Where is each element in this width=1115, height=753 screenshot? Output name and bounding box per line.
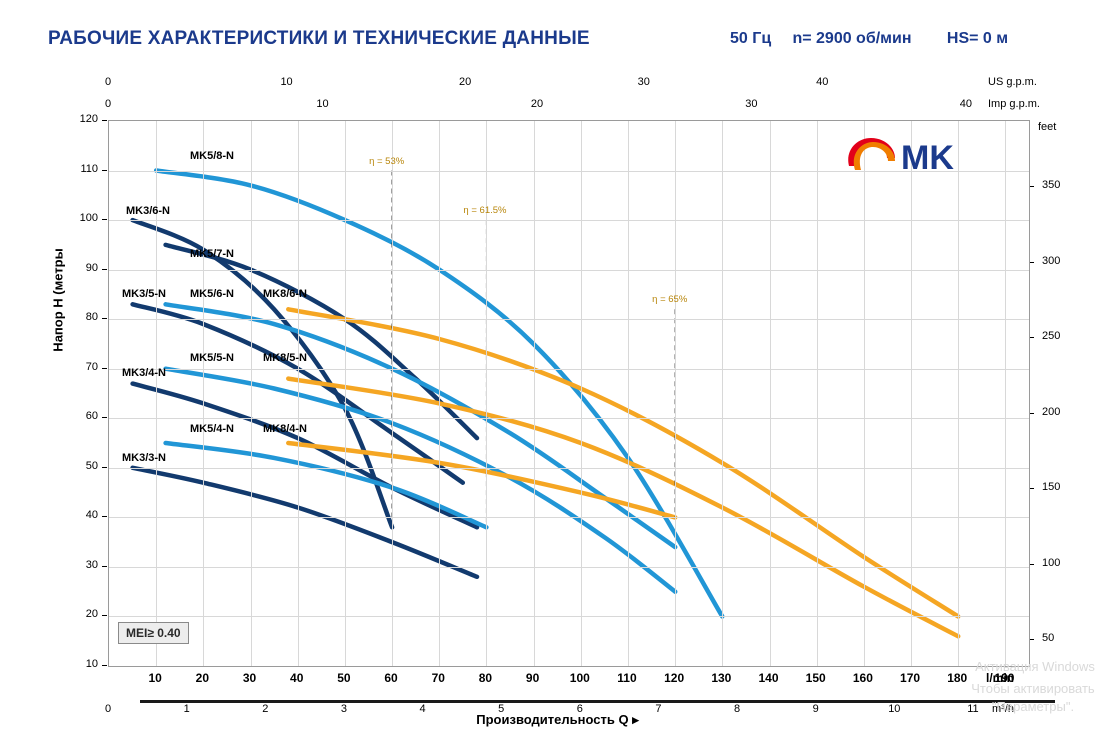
gridline-vertical: [345, 121, 346, 666]
axis-top-impgpm: 010203040: [108, 98, 1028, 112]
gridline-vertical: [156, 121, 157, 666]
x-tick-label: 70: [432, 671, 445, 685]
y-right-tick-label: 250: [1042, 330, 1076, 342]
gridline-vertical: [958, 121, 959, 666]
x-tick-label: 10: [316, 98, 328, 110]
gridline-vertical: [581, 121, 582, 666]
axis-top-usgpm-unit: US g.p.m.: [988, 76, 1037, 88]
y-tick-label: 20: [70, 608, 98, 620]
curve-label: MK5/4-N: [190, 423, 234, 435]
gridline-vertical: [817, 121, 818, 666]
curves-layer: [109, 121, 1029, 666]
curve-label: MK3/5-N: [122, 288, 166, 300]
gridline-vertical: [251, 121, 252, 666]
x-tick-label: 10: [280, 76, 292, 88]
y-right-tick-label: 100: [1042, 557, 1076, 569]
y-tick-label: 30: [70, 559, 98, 571]
curve-mk5-5-n: [166, 369, 676, 592]
curve-label: MK5/6-N: [190, 288, 234, 300]
watermark-line3: "Параметры".: [958, 698, 1108, 716]
x-tick-label: 10: [148, 671, 161, 685]
gridline-horizontal: [109, 418, 1029, 419]
x-tick-label: 30: [243, 671, 256, 685]
x-tick-label: 50: [337, 671, 350, 685]
gridline-horizontal: [109, 369, 1029, 370]
page-title: РАБОЧИЕ ХАРАКТЕРИСТИКИ И ТЕХНИЧЕСКИЕ ДАН…: [48, 28, 590, 50]
y-tick-mark: [102, 615, 107, 616]
x-tick-label: 40: [816, 76, 828, 88]
curve-label: MK5/8-N: [190, 150, 234, 162]
gridline-vertical: [911, 121, 912, 666]
y-tick-mark: [102, 170, 107, 171]
y-tick-label: 10: [70, 658, 98, 670]
performance-chart-plot: [108, 120, 1030, 667]
watermark-line1: Активация Windows: [960, 658, 1110, 676]
curve-label: MK3/4-N: [122, 367, 166, 379]
x-tick-label: 100: [570, 671, 590, 685]
y-right-tick-label: 150: [1042, 481, 1076, 493]
axis-top-usgpm: 010203040: [108, 76, 1028, 90]
axis-right-unit: feet: [1038, 121, 1056, 133]
y-tick-label: 120: [70, 113, 98, 125]
axis-bottom-lmin: 1020304050607080901001101201301401501601…: [108, 671, 1028, 685]
y-tick-label: 110: [70, 163, 98, 175]
header-specs: 50 Гц n= 2900 об/мин HS= 0 м: [730, 30, 1090, 48]
curve-label: MK5/7-N: [190, 248, 234, 260]
y-tick-mark: [102, 566, 107, 567]
curve-label: MK8/4-N: [263, 423, 307, 435]
gridline-horizontal: [109, 270, 1029, 271]
axis-top-impgpm-unit: Imp g.p.m.: [988, 98, 1040, 110]
mk-logo: MK: [845, 136, 975, 178]
curve-label: MK8/5-N: [263, 352, 307, 364]
gridline-vertical: [628, 121, 629, 666]
x-tick-label: 170: [900, 671, 920, 685]
y-tick-label: 100: [70, 212, 98, 224]
x-tick-label: 40: [960, 98, 972, 110]
mei-badge: MEI≥ 0.40: [118, 622, 189, 644]
y-tick-label: 80: [70, 311, 98, 323]
gridline-horizontal: [109, 468, 1029, 469]
gridline-horizontal: [109, 220, 1029, 221]
x-tick-label: 0: [105, 76, 111, 88]
y-tick-mark: [102, 318, 107, 319]
gridline-horizontal: [109, 319, 1029, 320]
curve-label: MK3/3-N: [122, 452, 166, 464]
y-tick-mark: [102, 219, 107, 220]
x-axis-arrow-icon: ▸: [632, 712, 639, 727]
efficiency-label: η = 65%: [652, 294, 687, 305]
mk-logo-text: MK: [901, 139, 954, 177]
gridline-vertical: [486, 121, 487, 666]
y-tick-mark: [102, 467, 107, 468]
gridline-vertical: [675, 121, 676, 666]
y-right-tick-label: 350: [1042, 179, 1076, 191]
watermark-line2: Чтобы активировать: [958, 680, 1108, 698]
efficiency-label: η = 53%: [369, 156, 404, 167]
y-tick-mark: [102, 665, 107, 666]
speed-value: n= 2900 об/мин: [792, 30, 942, 48]
x-tick-label: 160: [853, 671, 873, 685]
efficiency-label: η = 61.5%: [463, 205, 506, 216]
gridline-horizontal: [109, 616, 1029, 617]
x-tick-label: 20: [531, 98, 543, 110]
curve-label: MK5/5-N: [190, 352, 234, 364]
gridline-vertical: [864, 121, 865, 666]
x-tick-label: 150: [806, 671, 826, 685]
x-tick-label: 130: [711, 671, 731, 685]
x-axis-title: Производительность Q ▸: [0, 712, 1115, 728]
gridline-horizontal: [109, 517, 1029, 518]
x-tick-label: 140: [758, 671, 778, 685]
gridline-vertical: [392, 121, 393, 666]
x-tick-label: 40: [290, 671, 303, 685]
x-tick-label: 30: [638, 76, 650, 88]
y-right-tick-label: 50: [1042, 632, 1076, 644]
x-tick-label: 30: [745, 98, 757, 110]
x-tick-label: 90: [526, 671, 539, 685]
gridline-vertical: [534, 121, 535, 666]
x-tick-label: 120: [664, 671, 684, 685]
y-tick-label: 40: [70, 509, 98, 521]
y-tick-label: 50: [70, 460, 98, 472]
curve-label: MK3/6-N: [126, 205, 170, 217]
y-tick-mark: [102, 269, 107, 270]
y-right-tick-label: 200: [1042, 406, 1076, 418]
gridline-vertical: [722, 121, 723, 666]
curve-mk3-3-n: [133, 468, 477, 577]
gridline-vertical: [1005, 121, 1006, 666]
y-tick-label: 90: [70, 262, 98, 274]
gridline-horizontal: [109, 567, 1029, 568]
gridline-vertical: [203, 121, 204, 666]
y-right-tick-label: 300: [1042, 255, 1076, 267]
y-tick-mark: [102, 120, 107, 121]
curve-mk3-6-n: [133, 220, 393, 527]
bottom-divider: [140, 700, 1055, 703]
frequency-value: 50 Гц: [730, 30, 788, 48]
gridline-vertical: [770, 121, 771, 666]
y-tick-label: 60: [70, 410, 98, 422]
x-axis-title-label: Производительность Q: [476, 712, 628, 727]
curve-label: MK8/6-N: [263, 288, 307, 300]
y-tick-label: 70: [70, 361, 98, 373]
x-tick-label: 80: [479, 671, 492, 685]
x-tick-label: 0: [105, 98, 111, 110]
y-axis-title: Напор H (метры: [51, 248, 66, 351]
x-tick-label: 110: [617, 671, 636, 685]
x-tick-label: 20: [196, 671, 209, 685]
x-tick-label: 20: [459, 76, 471, 88]
curve-mk8-5-n: [288, 379, 958, 637]
y-tick-mark: [102, 368, 107, 369]
gridline-vertical: [439, 121, 440, 666]
y-tick-mark: [102, 417, 107, 418]
y-tick-mark: [102, 516, 107, 517]
suction-head-value: HS= 0 м: [947, 30, 1008, 48]
x-tick-label: 60: [384, 671, 397, 685]
gridline-vertical: [298, 121, 299, 666]
